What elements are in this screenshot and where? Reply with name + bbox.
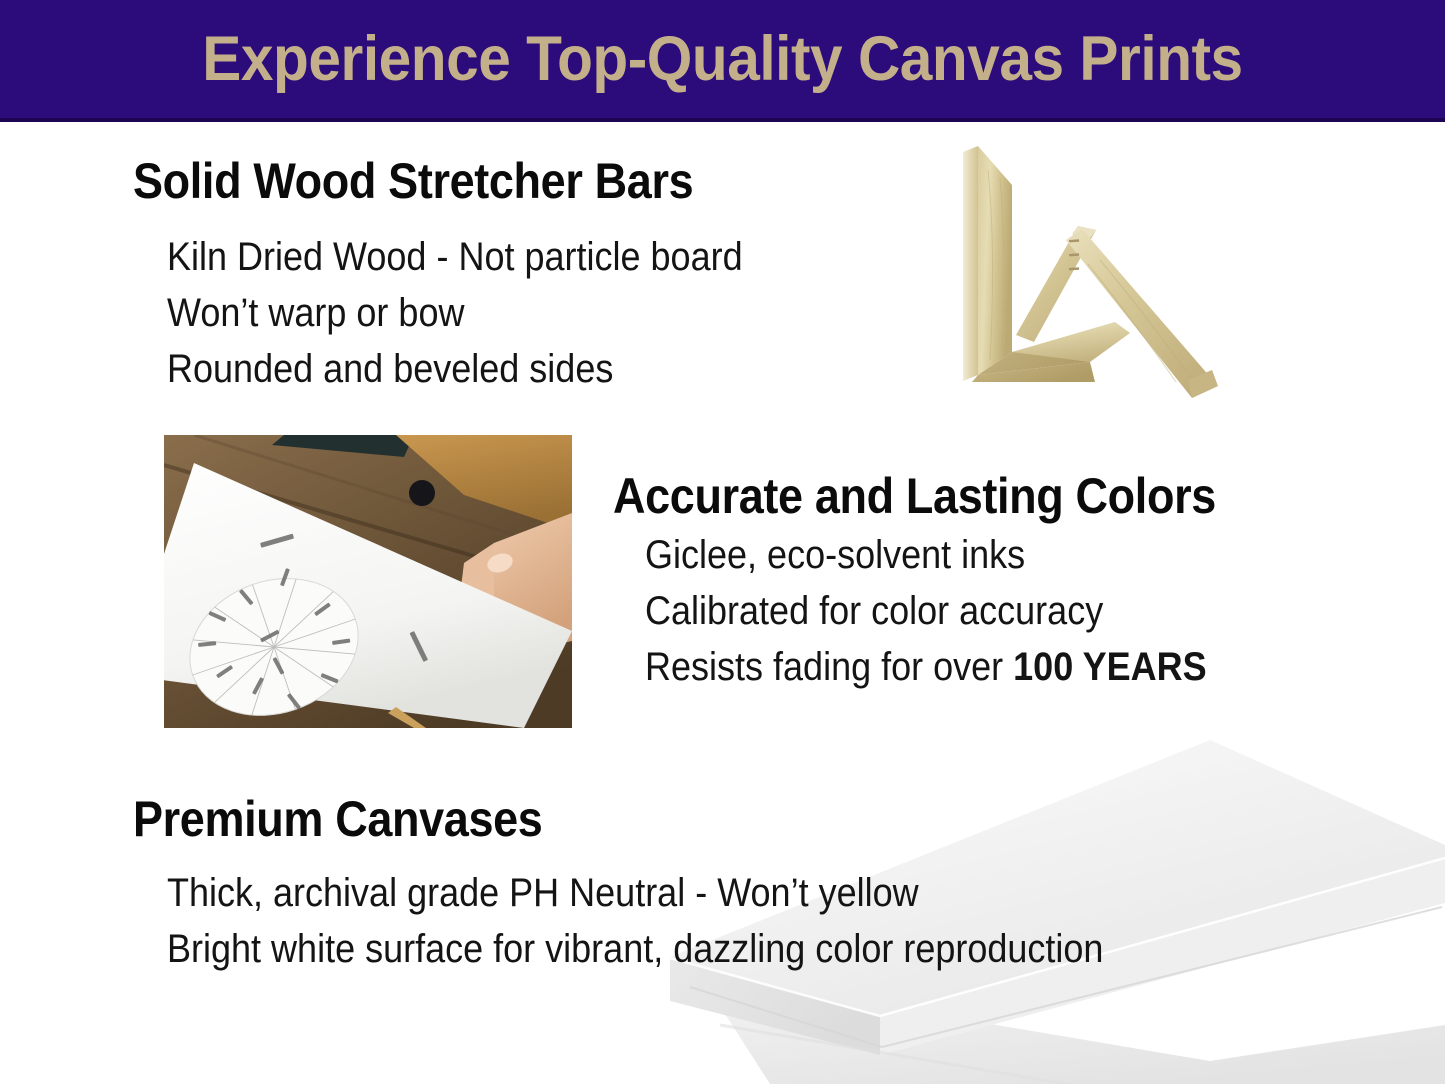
bullet-stretcher-bars-2: Won’t warp or bow	[167, 291, 464, 336]
canvas-stack-shadow	[720, 1025, 1190, 1084]
sleeve-button	[409, 480, 435, 506]
section-heading-colors: Accurate and Lasting Colors	[613, 467, 1216, 525]
color-wheel-photo-content	[164, 435, 572, 728]
bullet-colors-3-prefix: Resists fading for over	[645, 645, 1013, 689]
bullet-colors-1: Giclee, eco-solvent inks	[645, 533, 1025, 578]
section-heading-canvases: Premium Canvases	[133, 790, 542, 848]
bullet-colors-3: Resists fading for over 100 YEARS	[645, 645, 1207, 690]
section-heading-stretcher-bars: Solid Wood Stretcher Bars	[133, 152, 693, 210]
bullet-canvases-2: Bright white surface for vibrant, dazzli…	[167, 927, 1103, 972]
bullet-colors-3-emphasis: 100 YEARS	[1013, 645, 1206, 689]
color-wheel-photo	[164, 435, 572, 728]
canvas-lower-slab	[700, 975, 1445, 1084]
header-banner: Experience Top-Quality Canvas Prints	[0, 0, 1445, 122]
wood-stretcher-bars-photo	[930, 130, 1250, 420]
wood-bar-left-face	[978, 146, 1012, 375]
bullet-stretcher-bars-3: Rounded and beveled sides	[167, 347, 613, 392]
wood-bar-left-bevel	[963, 146, 978, 381]
bullet-colors-2: Calibrated for color accuracy	[645, 589, 1103, 634]
bullet-canvases-1: Thick, archival grade PH Neutral - Won’t…	[167, 871, 919, 916]
page-title: Experience Top-Quality Canvas Prints	[51, 0, 1395, 118]
infographic-page: Experience Top-Quality Canvas Prints Sol…	[0, 0, 1445, 1084]
bullet-stretcher-bars-1: Kiln Dried Wood - Not particle board	[167, 235, 743, 280]
